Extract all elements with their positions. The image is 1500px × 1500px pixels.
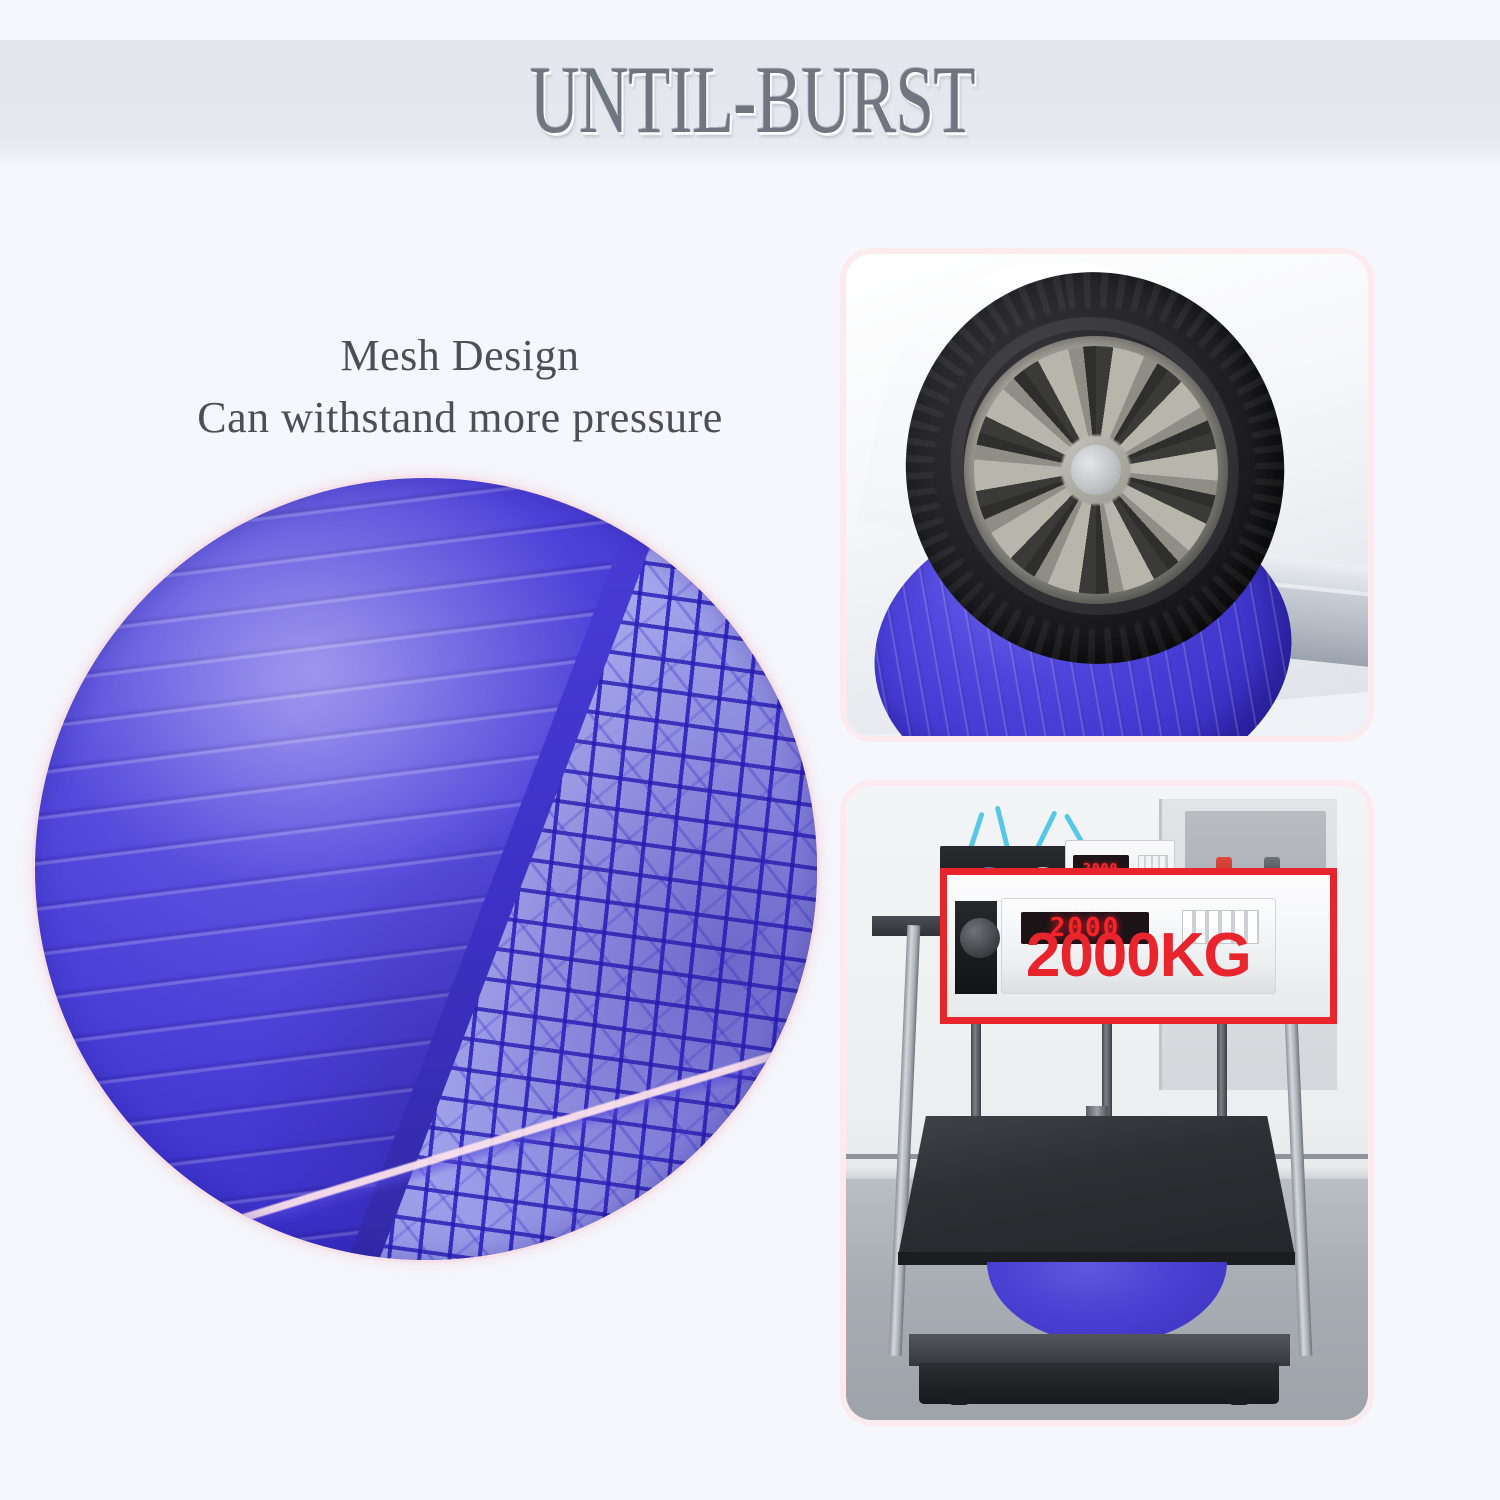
press-base-plate bbox=[919, 1363, 1279, 1404]
panel-press-load-test: 2000 bbox=[846, 786, 1368, 1420]
press-upper-platen bbox=[898, 1116, 1295, 1255]
feature-caption: Mesh Design Can withstand more pressure bbox=[95, 325, 825, 449]
caption-subheading: Can withstand more pressure bbox=[95, 387, 825, 449]
caption-heading: Mesh Design bbox=[95, 325, 825, 387]
press-lower-platen bbox=[909, 1334, 1290, 1366]
press-foot-right bbox=[1228, 1389, 1250, 1405]
header-band: UNTIL-BURST bbox=[0, 40, 1500, 163]
exercise-ball bbox=[35, 478, 817, 1260]
press-foot-left bbox=[948, 1389, 970, 1405]
panel-tire-load-test bbox=[846, 254, 1368, 736]
product-marketing-page: UNTIL-BURST Mesh Design Can withstand mo… bbox=[0, 0, 1500, 1500]
hero-ball-image bbox=[35, 478, 817, 1260]
press-photo: 2000 bbox=[846, 786, 1368, 1420]
zoom-callout-box: 2000 2000KG bbox=[940, 868, 1337, 1023]
page-title: UNTIL-BURST bbox=[525, 52, 974, 148]
callout-knob bbox=[960, 918, 1000, 958]
callout-weight-label: 2000KG bbox=[1026, 925, 1251, 987]
tire-photo bbox=[846, 254, 1368, 736]
